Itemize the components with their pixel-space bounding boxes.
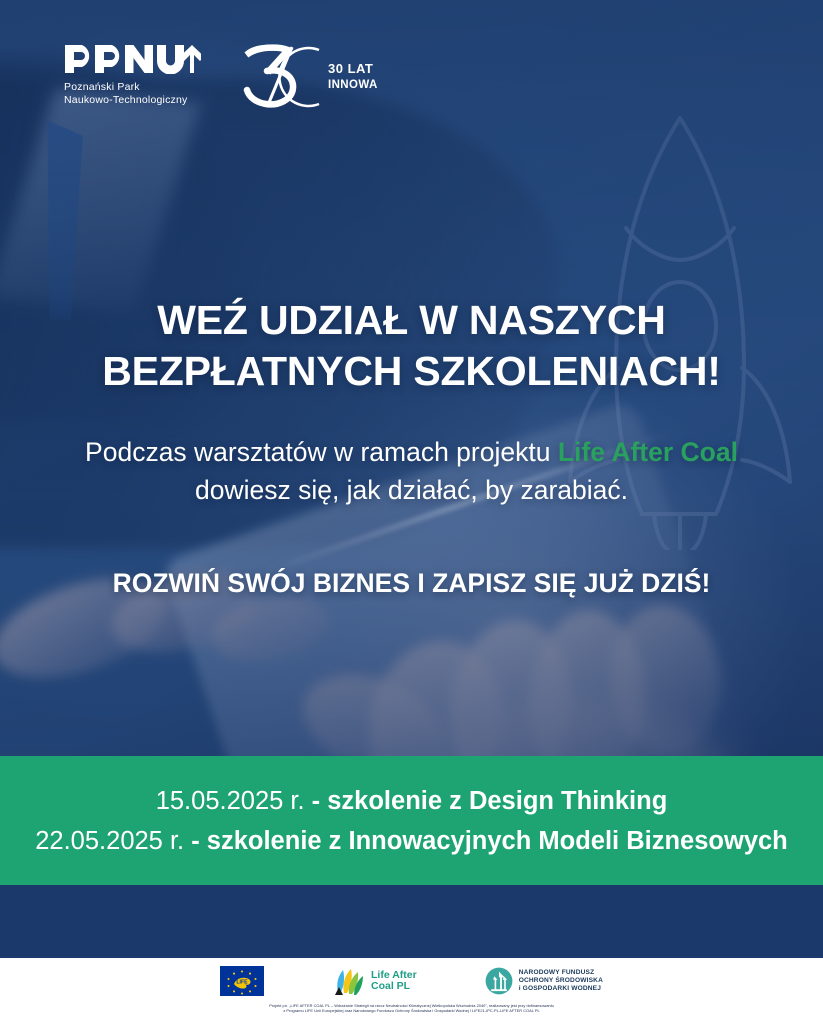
anniversary-line2: INNOWACJI	[328, 79, 378, 91]
nfosigw-emblem-icon	[485, 967, 513, 995]
nfosigw-label: NARODOWY FUNDUSZ OCHRONY ŚRODOWISKA i GO…	[519, 969, 603, 993]
subtitle-line-1: Podczas warsztatów w ramach projektu Lif…	[0, 433, 823, 471]
ppnt-wordmark-icon	[64, 44, 201, 74]
schedule-training-title: - szkolenie z Design Thinking	[305, 787, 668, 815]
schedule-training-title: - szkolenie z Innowacyjnych Modeli Bizne…	[184, 827, 788, 855]
call-to-action-text: ROZWIŃ SWÓJ BIZNES I ZAPISZ SIĘ JUŻ DZIŚ…	[0, 566, 823, 600]
poster-subtitle: Podczas warsztatów w ramach projektu Lif…	[0, 433, 823, 509]
anniversary-line1: 30 LAT	[328, 61, 373, 76]
ppnt-logo-subtitle: Poznański Park Naukowo-Technologiczny	[64, 81, 201, 106]
nfosigw-logo: NARODOWY FUNDUSZ OCHRONY ŚRODOWISKA i GO…	[485, 967, 603, 995]
anniversary-30-icon: 30 LAT INNOWACJI	[240, 42, 378, 108]
headline-line-1: WEŹ UDZIAŁ W NASZYCH	[0, 295, 823, 346]
eu-life-label: LIFE	[236, 980, 248, 986]
headline-line-2: BEZPŁATNYCH SZKOLENIACH!	[0, 346, 823, 397]
schedule-date: 22.05.2025 r.	[35, 827, 184, 855]
leaf-cluster-icon	[332, 966, 366, 996]
promotional-poster: Poznański Park Naukowo-Technologiczny 30…	[0, 0, 823, 1032]
project-name-highlight: Life After Coal	[558, 437, 738, 467]
life-after-coal-pl-label: Life After Coal PL	[371, 970, 417, 993]
page-title: WEŹ UDZIAŁ W NASZYCH BEZPŁATNYCH SZKOLEN…	[0, 295, 823, 397]
schedule-band: 15.05.2025 r. - szkolenie z Design Think…	[0, 756, 823, 885]
schedule-row: 15.05.2025 r. - szkolenie z Design Think…	[156, 781, 668, 821]
poster-footer: LIFE Life After Coal PL	[0, 958, 823, 1032]
schedule-date: 15.05.2025 r.	[156, 787, 305, 815]
30-years-anniversary-logo: 30 LAT INNOWACJI	[240, 42, 378, 113]
funding-disclaimer-text: Projekt pn. „LIFE AFTER COAL PL – Wdraża…	[0, 1003, 823, 1013]
life-after-coal-pl-logo: Life After Coal PL	[332, 966, 417, 996]
footer-logo-row: LIFE Life After Coal PL	[0, 966, 823, 996]
navy-divider-strip	[0, 885, 823, 958]
subtitle-lead-text: Podczas warsztatów w ramach projektu	[85, 437, 558, 467]
schedule-row: 22.05.2025 r. - szkolenie z Innowacyjnyc…	[35, 821, 788, 861]
eu-life-programme-logo-icon: LIFE	[220, 966, 264, 996]
poster-header: Poznański Park Naukowo-Technologiczny 30…	[0, 0, 823, 130]
ppnt-logo: Poznański Park Naukowo-Technologiczny	[64, 44, 201, 106]
subtitle-line-2: dowiesz się, jak działać, by zarabiać.	[0, 471, 823, 509]
